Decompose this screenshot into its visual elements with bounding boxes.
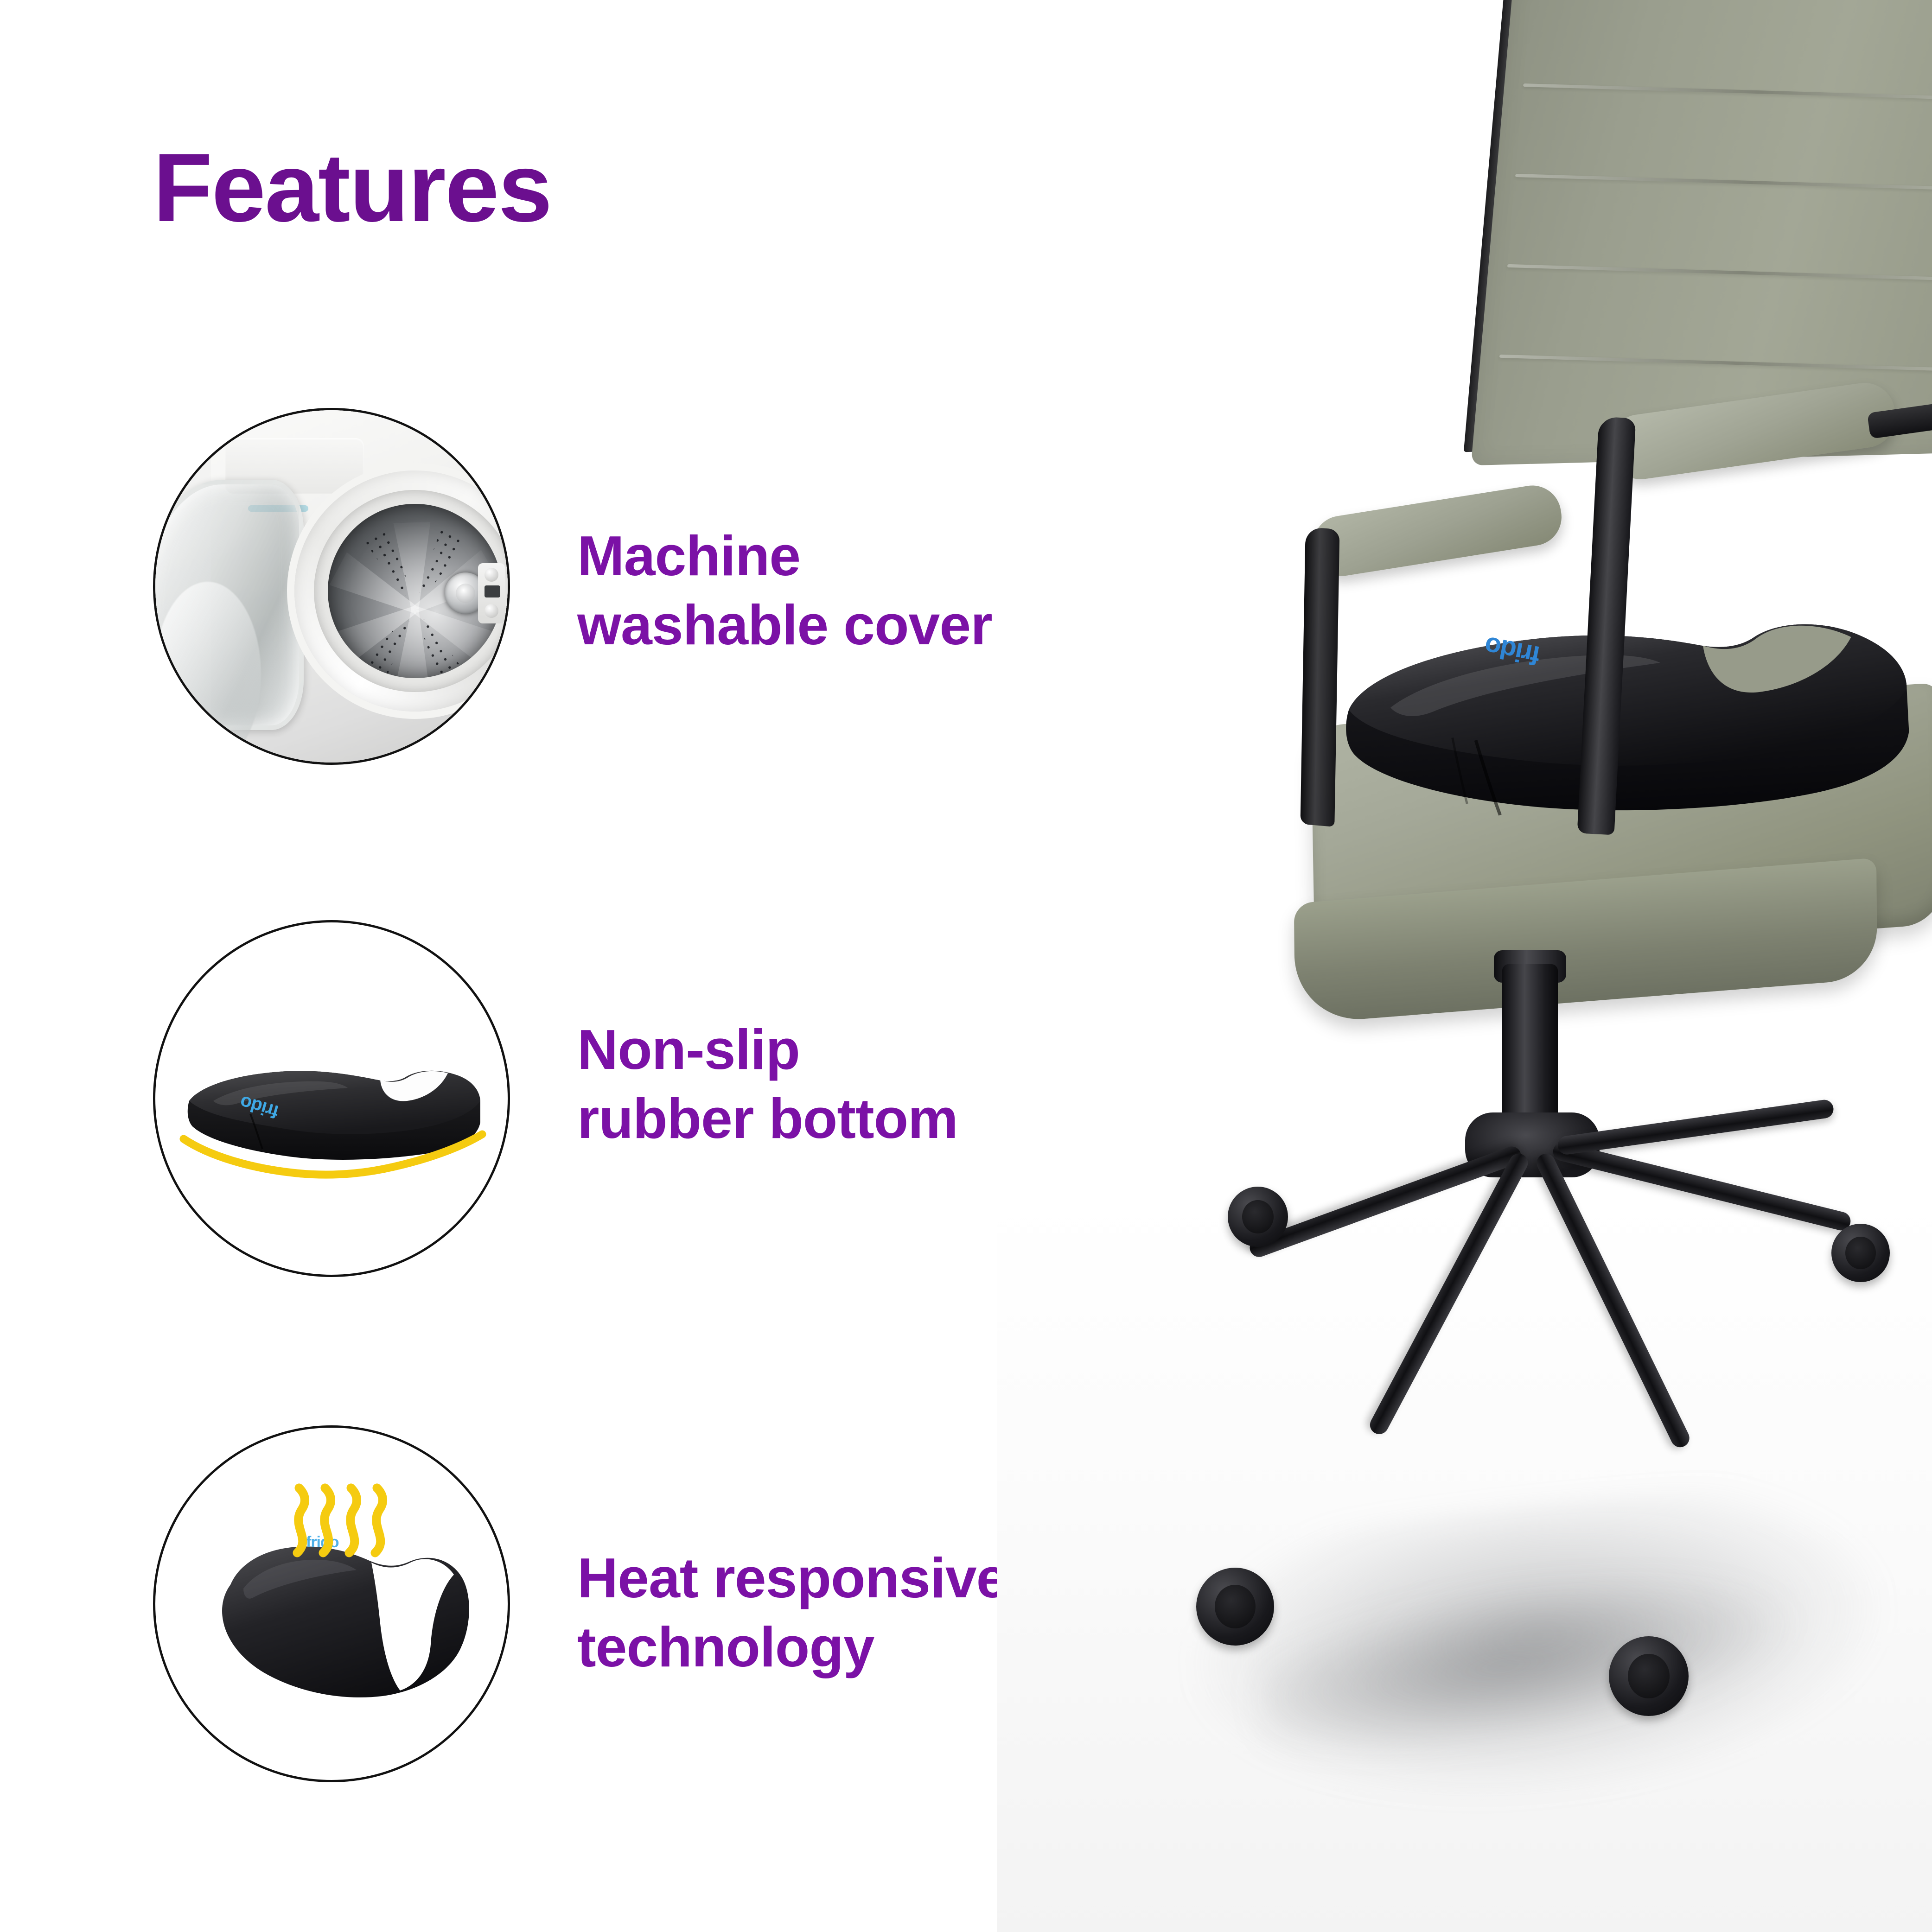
caster-wheel [1831, 1224, 1890, 1282]
washer-door-glass [153, 480, 304, 730]
page-title: Features [153, 139, 551, 236]
chair-armrest-left [1309, 482, 1566, 580]
caster-wheel [1228, 1187, 1288, 1247]
office-chair-with-cushion-photo: frido [997, 0, 1932, 1932]
feature-label-non-slip: Non-slip rubber bottom [577, 1015, 958, 1153]
base-leg [1551, 1140, 1852, 1232]
washer-door-glass-highlight [154, 582, 261, 765]
base-leg [1534, 1150, 1693, 1450]
caster-wheel [1609, 1636, 1689, 1716]
heat-waves-svg [289, 1483, 395, 1557]
washer-side-controls [478, 563, 505, 623]
base-leg [1556, 1099, 1835, 1156]
cushion-side-svg [181, 1031, 485, 1184]
washing-machine-illustration [155, 410, 508, 763]
cushion-side-illustration: frido [155, 922, 508, 1275]
cushion-heat-waves-icon: frido [153, 1425, 510, 1782]
heat-waves-group [289, 1483, 395, 1557]
feature-label-heat-responsive: Heat responsive technology [577, 1544, 1007, 1682]
washing-machine-icon [153, 408, 510, 765]
cushion-heat-illustration: frido [155, 1428, 508, 1780]
feature-label-machine-washable: Machine washable cover [577, 521, 992, 660]
washer-drum [328, 504, 502, 678]
cushion-side-view-icon: frido [153, 920, 510, 1277]
cushion-body [181, 1031, 485, 1184]
caster-wheel [1196, 1568, 1274, 1646]
armrest-left-post [1301, 527, 1340, 827]
